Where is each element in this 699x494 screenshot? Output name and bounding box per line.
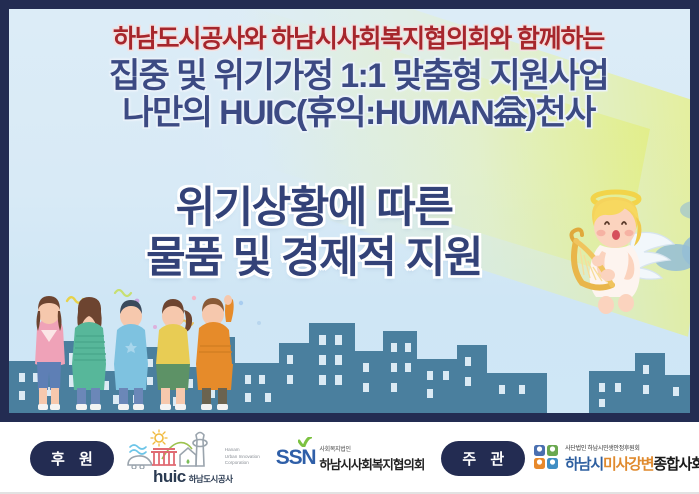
poster-footer: 후 원: [0, 422, 699, 494]
headline-block: 하남도시공사와 하남시사회복지협의회와 함께하는 집중 및 위기가정 1:1 맞…: [9, 27, 690, 133]
misa-name-part-1: 하남시: [565, 456, 603, 473]
ssn-org-name: 하남시사회복지협의회: [319, 454, 424, 473]
misa-org-type: 사단법인 하남시민생안정후원회: [565, 443, 699, 452]
person-1: [35, 296, 65, 410]
huic-wordmark: huic: [153, 467, 186, 487]
ssn-wordmark: SSN: [276, 446, 316, 469]
huic-english-name: Hanam Urban Innovation Corporation: [225, 447, 260, 467]
title-line-2: 물품 및 경제적 지원: [49, 234, 579, 284]
sponsor-badge: 후 원: [30, 441, 114, 476]
ssn-logo: SSN 사회복지법인 하남시사회복지협의회: [276, 444, 425, 473]
huic-logo: Hanam Urban Innovation Corporation huic …: [126, 429, 260, 487]
poster-frame: 하남도시공사와 하남시사회복지협의회와 함께하는 집중 및 위기가정 1:1 맞…: [0, 0, 699, 422]
person-5: [196, 295, 234, 410]
ssn-check-icon: [298, 437, 312, 447]
host-badge: 주 관: [441, 441, 525, 476]
poster-sky-panel: 하남도시공사와 하남시사회복지협의회와 함께하는 집중 및 위기가정 1:1 맞…: [9, 9, 690, 413]
people-illustration: [27, 288, 277, 413]
headline-subtitle: 하남도시공사와 하남시사회복지협의회와 함께하는: [9, 27, 690, 52]
misa-org-name: 하남시미사강변종합사회복지관: [565, 453, 699, 474]
misa-logo: 사단법인 하남시민생안정후원회 하남시미사강변종합사회복지관: [534, 443, 699, 474]
huic-korean-name: 하남도시공사: [189, 473, 233, 485]
poster-root: 하남도시공사와 하남시사회복지협의회와 함께하는 집중 및 위기가정 1:1 맞…: [0, 0, 699, 494]
title-line-1: 위기상황에 따른: [49, 184, 579, 234]
misa-name-part-2: 미사강변: [603, 456, 653, 473]
poster-main-title: 위기상황에 따른 물품 및 경제적 지원: [49, 184, 579, 284]
misa-name-part-3: 종합사회복지관: [653, 456, 699, 473]
person-3: [114, 300, 148, 410]
headline-main-line-2: 나만의 HUIC(휴익:HUMAN益)천사: [9, 96, 690, 130]
ssn-org-type: 사회복지법인: [319, 444, 424, 453]
person-2: [72, 297, 106, 410]
headline-main-line-1: 집중 및 위기가정 1:1 맞춤형 지원사업: [9, 59, 690, 93]
person-4: [156, 299, 192, 410]
huic-logo-mark: [126, 429, 222, 469]
misa-logo-mark: [534, 444, 560, 472]
